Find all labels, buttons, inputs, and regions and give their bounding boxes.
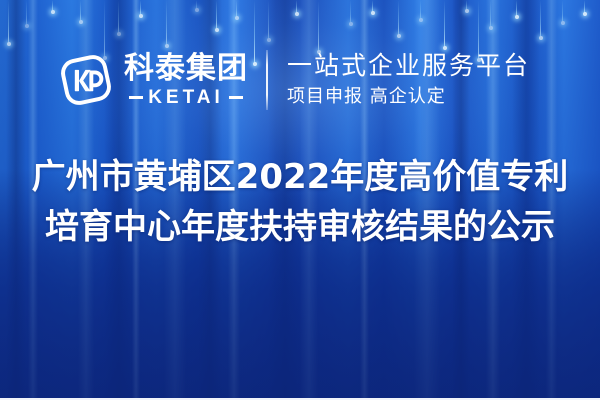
header-divider: [266, 50, 268, 110]
ketai-kt-monogram-icon: [58, 52, 114, 108]
header-tagline: 一站式企业服务平台 项目申报 高企认定: [287, 51, 530, 109]
brand-name-en-row: KETAI: [124, 88, 248, 108]
brand-logo-text: 科泰集团 KETAI: [124, 53, 248, 108]
logo-dash-left-icon: [129, 96, 143, 99]
tagline-main: 一站式企业服务平台: [287, 51, 530, 81]
brand-name-en: KETAI: [148, 88, 224, 108]
page-title: 广州市黄埔区2022年度高价值专利 培育中心年度扶持审核结果的公示: [0, 152, 600, 252]
logo-dash-right-icon: [229, 96, 243, 99]
page-title-line-2: 培育中心年度扶持审核结果的公示: [0, 202, 600, 252]
brand-logo[interactable]: 科泰集团 KETAI: [58, 52, 248, 108]
promo-banner: 科泰集团 KETAI 一站式企业服务平台 项目申报 高企认定 广州市黄埔区202…: [0, 0, 600, 400]
banner-header: 科泰集团 KETAI 一站式企业服务平台 项目申报 高企认定: [0, 42, 600, 118]
brand-name-cn: 科泰集团: [124, 53, 248, 85]
page-title-line-1: 广州市黄埔区2022年度高价值专利: [0, 152, 600, 202]
tagline-sub: 项目申报 高企认定: [287, 85, 530, 109]
